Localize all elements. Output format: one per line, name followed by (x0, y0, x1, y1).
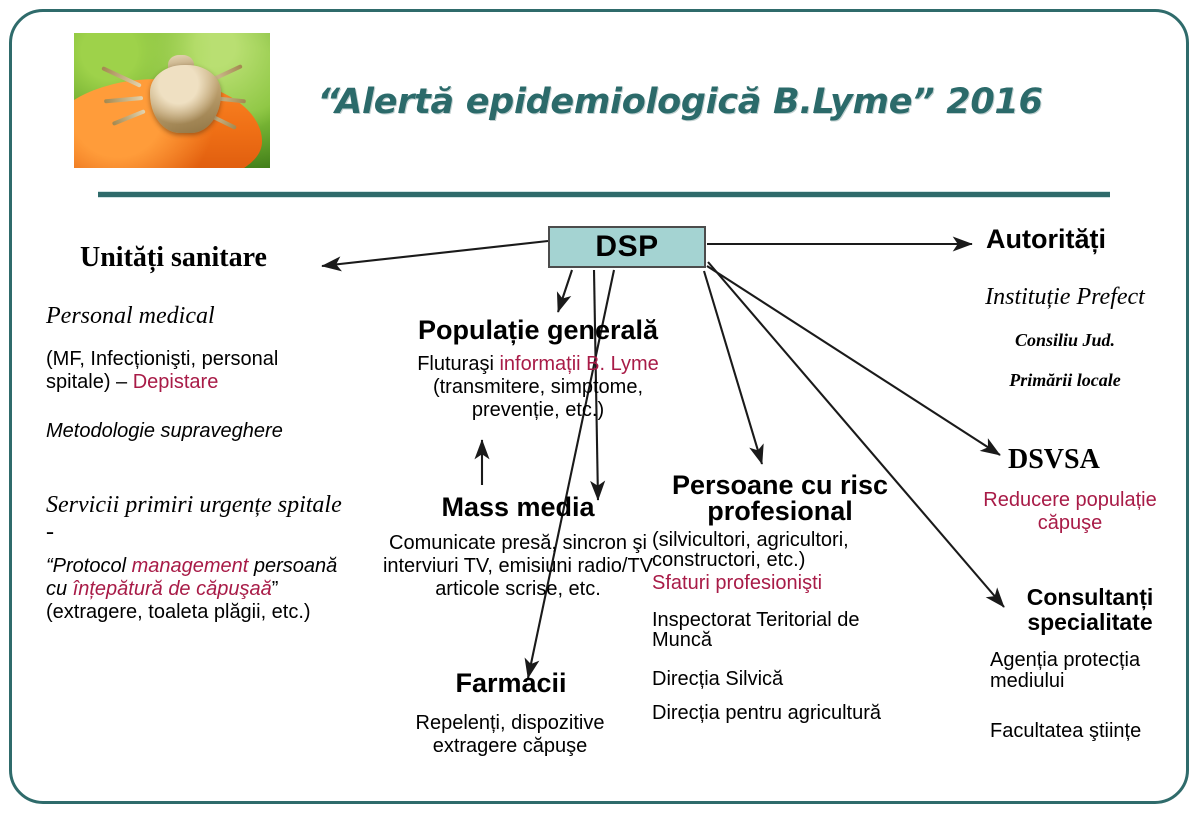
protocol-part-1: “Protocol (46, 555, 132, 577)
heading-persoane-risc: Persoane cu risc profesional (652, 472, 908, 525)
text-directia-silvica: Direcția Silvică (652, 668, 908, 691)
text-fluturasi: Fluturaşi informații B. Lyme(transmitere… (388, 353, 688, 421)
text-protocol-capusa: “Protocol management persoană cu înțepăt… (46, 555, 346, 623)
text-primarii-locale: Primării locale (955, 370, 1175, 391)
heading-dsvsa: DSVSA (1008, 444, 1100, 476)
slide-canvas: “Alertă epidemiologică B.Lyme” 2016 (0, 0, 1202, 816)
protocol-intepatura: înțepătură de căpuşaă (73, 578, 272, 600)
arrow-dsp-to-unitati (322, 241, 548, 266)
text-facultatea-stiinte: Facultatea ştiințe (990, 720, 1190, 743)
page-title: “Alertă epidemiologică B.Lyme” 2016 (300, 82, 1060, 122)
text-inspectorat-munca: Inspectorat Teritorial de Muncă (652, 610, 908, 650)
text-farmacii-body: Repelenți, dispozitive extragere căpuşe (380, 712, 640, 758)
subheading-personal-medical: Personal medical (46, 303, 215, 330)
text-depistare: Depistare (133, 371, 219, 393)
heading-autoritati: Autorități (986, 224, 1106, 255)
text-metodologie: Metodologie supraveghere (46, 420, 366, 443)
title-divider (98, 191, 1110, 198)
text-mass-media-body: Comunicate presă, sincron şi interviuri … (380, 532, 656, 600)
tick-photo (74, 33, 270, 168)
fluturasi-rest: (transmitere, simptome, prevenție, etc.) (433, 376, 643, 421)
text-institutie-prefect: Instituție Prefect (955, 284, 1175, 311)
heading-populatie-generala: Populație generală (388, 315, 688, 346)
text-sfaturi-profesionisti: Sfaturi profesionişti (652, 572, 908, 595)
dsp-hub-box[interactable]: DSP (548, 226, 706, 268)
heading-consultanti-specialitate: Consultanți specialitate (1000, 585, 1180, 635)
text-consiliu-judetean: Consiliu Jud. (955, 330, 1175, 351)
text-silvicultori: (silvicultori, agricultori, constructori… (652, 530, 908, 570)
text-reducere-populatie-capuse: Reducere populație căpuşe (960, 489, 1180, 535)
arrow-dsp-to-persoane (704, 271, 762, 464)
fluturasi-red: informații B. Lyme (499, 353, 658, 375)
fluturasi-plain: Fluturaşi (417, 353, 499, 375)
heading-mass-media: Mass media (388, 492, 648, 523)
text-directia-agricultura: Direcția pentru agricultură (652, 703, 908, 723)
protocol-management: management (132, 555, 249, 577)
text-agentia-mediului: Agenția protecția mediului (990, 650, 1190, 692)
heading-farmacii: Farmacii (396, 668, 626, 699)
tick-body-icon (150, 65, 221, 133)
text-mf-depistare: (MF, Infecționişti, personal spitale) – … (46, 348, 346, 394)
subheading-servicii-urgente: Servicii primiri urgențe spitale - (46, 492, 346, 546)
dsp-label: DSP (595, 230, 658, 264)
heading-unitati-sanitare: Unități sanitare (80, 242, 267, 274)
arrow-dsp-to-populatie (558, 270, 572, 312)
